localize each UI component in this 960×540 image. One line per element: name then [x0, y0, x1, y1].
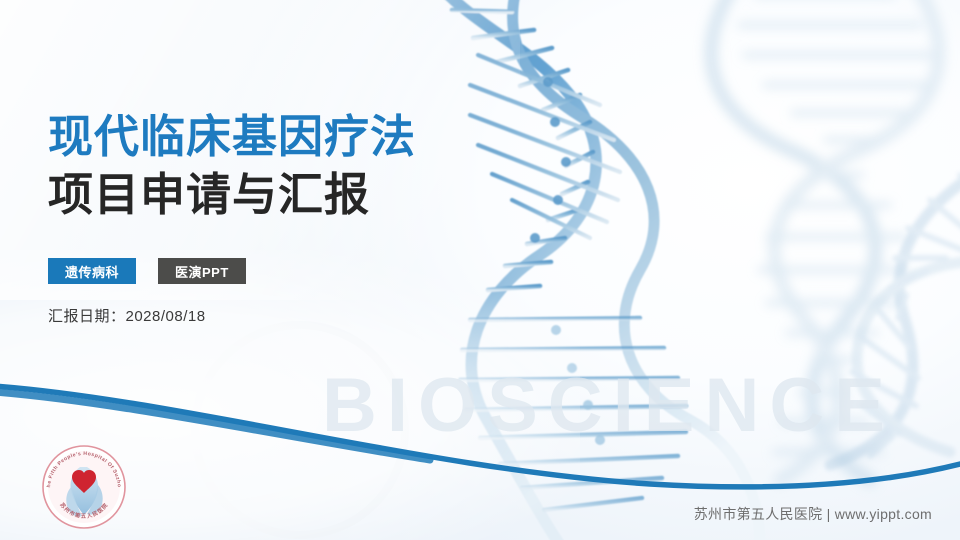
footer-credit: 苏州市第五人民医院 | www.yippt.com	[694, 504, 932, 524]
report-date: 汇报日期：2028/08/18	[48, 305, 206, 326]
hospital-logo: The Fifth People's Hospital Of Suzhou 苏州…	[40, 443, 128, 531]
title-line-1: 现代临床基因疗法	[48, 108, 416, 166]
slide-title: 现代临床基因疗法 项目申请与汇报	[48, 108, 416, 224]
badge-brand[interactable]: 医演PPT	[158, 258, 246, 284]
badge-group: 遗传病科 医演PPT	[48, 258, 246, 284]
presentation-title-slide: BIOSCIENCE 现代临床基因疗法 项目申请与汇报 遗传病科 医演PPT 汇…	[0, 0, 960, 540]
badge-department[interactable]: 遗传病科	[48, 258, 136, 284]
title-line-2: 项目申请与汇报	[48, 166, 416, 224]
